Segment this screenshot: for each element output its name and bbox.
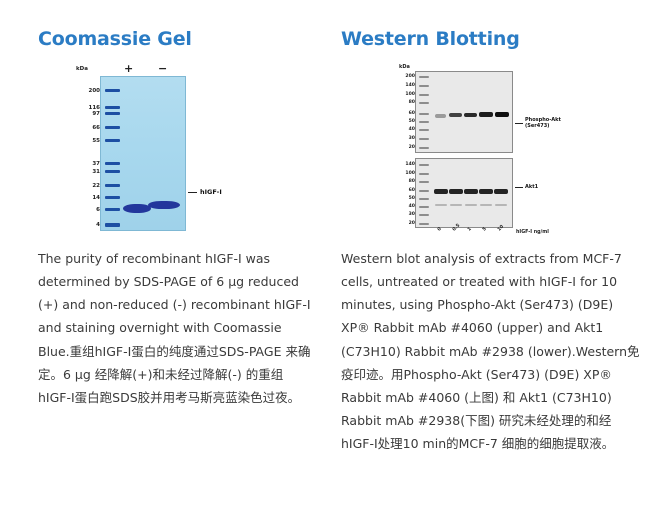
coomassie-gel-caption: The purity of recombinant hIGF-I was det… [38,247,311,409]
blot-marker: 60 [419,190,429,192]
blot-panel-akt1: 140 100 80 60 50 [415,158,513,228]
gel-marker-label: 14 [92,196,100,202]
blot-marker-label: 30 [409,136,415,141]
akt1-band-lane5 [494,189,508,194]
coomassie-gel-heading: Coomassie Gel [38,28,311,50]
phospho-akt-band-lane1 [435,114,446,118]
lane-label: 0 [437,227,443,233]
blot-marker-label: 100 [405,171,415,176]
blot-marker: 140 [419,164,429,166]
phospho-akt-band-lane5 [495,112,509,117]
gel-marker-band: 116 [105,106,120,109]
blot-marker-label: 60 [409,111,415,116]
gel-marker-label: 37 [92,162,100,168]
blot-marker: 60 [419,113,429,115]
akt1-callout-label: Akt1 [525,184,538,190]
gel-marker-label: 55 [92,139,100,145]
blot-marker-label: 200 [405,74,415,79]
blot-marker-label: 50 [409,119,415,124]
blot-marker: 80 [419,102,429,104]
blot-marker: 50 [419,198,429,200]
gel-marker-label: 22 [92,184,100,190]
blot-marker: 50 [419,121,429,123]
gel-marker-band: 37 [105,162,120,165]
phospho-akt-callout-line2: (Ser473) [525,123,561,129]
blot-marker: 30 [419,138,429,140]
gel-marker-band: 4 [105,223,120,227]
blot-marker-label: 60 [409,188,415,193]
gel-lane-headers: kDa + − [100,64,230,76]
phospho-akt-callout-text: Phospho-Akt (Ser473) [525,117,561,129]
gel-band-callout-label: hIGF-I [200,188,222,196]
blot-marker: 20 [419,147,429,149]
blot-marker: 140 [419,85,429,87]
gel-lane-reduced-label: + [124,64,133,74]
coomassie-gel-figure: kDa + − 200 116 9 [38,64,311,239]
gel-ladder-lane: 200 116 97 66 55 [105,77,120,230]
gel-marker-label: 66 [92,126,100,132]
blot-marker-label: 20 [409,145,415,150]
gel-marker-band: 55 [105,139,120,142]
blot-axis-title: hIGF-I ng/ml [516,230,549,235]
blot-marker-label: 30 [409,212,415,217]
gel-image: kDa + − 200 116 9 [100,64,230,231]
blot-marker-label: 140 [405,162,415,167]
blot-kda-label: kDa [399,64,567,70]
blot-marker: 80 [419,181,429,183]
akt1-callout: Akt1 [515,184,538,190]
blot-image: kDa 200 140 100 80 [397,64,567,246]
blot-marker: 100 [419,94,429,96]
blot-marker-label: 20 [409,221,415,226]
blot-marker: 20 [419,223,429,225]
lane-label: 1 [467,227,473,233]
callout-line [515,123,523,124]
phospho-akt-band-lane3 [464,113,477,117]
blot-marker: 30 [419,214,429,216]
phospho-akt-band-lane2 [449,113,462,117]
gel-marker-band: 66 [105,126,120,129]
gel-marker-label: 200 [89,89,100,95]
gel-marker-band: 31 [105,170,120,173]
gel-marker-label: 31 [92,170,100,176]
gel-sample-band-nonreduced [148,201,180,209]
gel-marker-band: 6 [105,208,120,211]
blot-marker: 200 [419,76,429,78]
akt1-faint-band [465,204,477,206]
akt1-band-lane1 [434,189,448,194]
western-blot-caption: Western blot analysis of extracts from M… [341,247,644,455]
blot-lane-axis: 0 0.5 1 5 10 hIGF-I ng/ml [415,228,513,246]
blot-marker: 40 [419,129,429,131]
phospho-akt-callout: Phospho-Akt (Ser473) [515,117,561,129]
callout-line [188,192,197,193]
akt1-faint-band [450,204,462,206]
figure-page: Coomassie Gel kDa + − 200 [0,0,658,525]
blot-marker-label: 100 [405,92,415,97]
gel-marker-label: 4 [96,223,100,229]
western-blot-figure: kDa 200 140 100 80 [341,64,644,239]
gel-marker-label: 6 [96,208,100,214]
callout-line [515,187,523,188]
blot-marker-label: 40 [409,127,415,132]
blot-marker-label: 140 [405,83,415,88]
western-blotting-heading: Western Blotting [341,28,644,50]
gel-marker-band: 14 [105,196,120,199]
blot-marker: 40 [419,206,429,208]
akt1-band-lane4 [479,189,493,194]
phospho-akt-band-lane4 [479,112,493,117]
akt1-faint-band [435,204,447,206]
akt1-band-lane2 [449,189,463,194]
akt1-band-lane3 [464,189,478,194]
blot-marker-label: 80 [409,100,415,105]
gel-marker-band: 97 [105,112,120,115]
gel-band-callout: hIGF-I [188,188,222,196]
gel-marker-band: 22 [105,184,120,187]
gel-marker-label: 97 [92,112,100,118]
blot-marker: 100 [419,173,429,175]
gel-sample-band-reduced [123,204,151,213]
akt1-faint-band [495,204,507,206]
gel-kda-label: kDa [76,66,88,72]
coomassie-gel-column: Coomassie Gel kDa + − 200 [0,28,329,468]
gel-marker-band: 200 [105,89,120,92]
akt1-faint-band [480,204,492,206]
lane-label: 5 [482,227,488,233]
gel-panel: 200 116 97 66 55 [100,76,186,231]
blot-panel-phospho-akt: 200 140 100 80 60 [415,71,513,153]
blot-marker-label: 50 [409,196,415,201]
blot-marker-label: 40 [409,204,415,209]
gel-lane-nonreduced-label: − [158,64,167,74]
western-blot-column: Western Blotting kDa 200 140 100 [329,28,658,468]
two-column-layout: Coomassie Gel kDa + − 200 [0,0,658,468]
blot-marker-label: 80 [409,179,415,184]
